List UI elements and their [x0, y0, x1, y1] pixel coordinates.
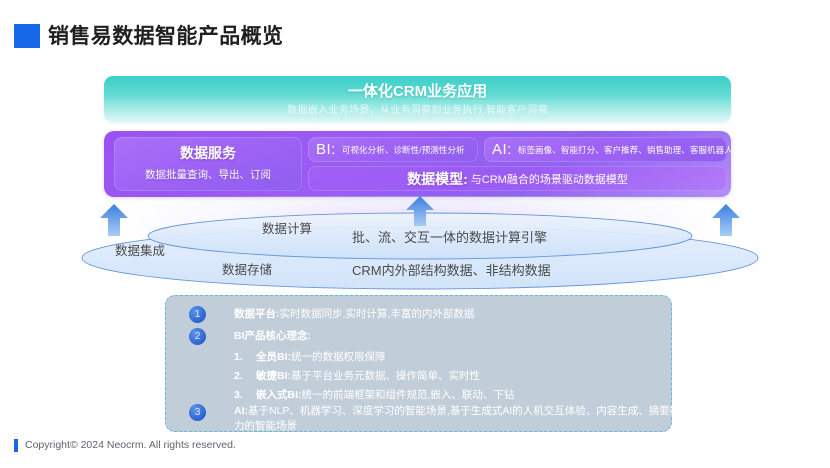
data-compute-label: 数据计算 — [262, 218, 312, 237]
note-subitem-3: 3.嵌入式BI:统一的前端框架和组件规范,嵌入、联动、下钻 — [234, 387, 514, 402]
data-storage-label: 数据存储 — [222, 259, 272, 278]
note-key-3: AI: — [234, 405, 248, 417]
bi-label: BI: — [316, 141, 336, 158]
title-accent-bar — [14, 24, 40, 48]
page-title: 销售易数据智能产品概览 — [48, 20, 283, 50]
footer: Copyright© 2024 Neocrm. All rights reser… — [14, 437, 236, 453]
note-text-2: BI产品核心理念: — [234, 329, 311, 344]
note-subitem-3-body: 统一的前端框架和组件规范,嵌入、联动、下钻 — [302, 389, 515, 401]
data-model-label: 数据模型: — [407, 169, 468, 189]
note-number-1: 1 — [189, 306, 206, 323]
ai-label: AI: — [492, 141, 512, 158]
note-subitem-2-key: 敏捷BI: — [256, 370, 291, 382]
bi-description: 可视化分析、诊断性/预测性分析 — [342, 144, 465, 156]
up-arrow-right-icon — [712, 204, 740, 236]
note-number-2: 2 — [189, 328, 206, 345]
application-layer-band: 一体化CRM业务应用 数据嵌入业务场景、从业务洞察到业务执行,智能客户洞察 — [104, 76, 731, 122]
data-service-title: 数据服务 — [114, 143, 302, 163]
up-arrow-left-icon — [100, 204, 128, 236]
note-key-1: 数据平台: — [234, 308, 280, 320]
note-subitem-3-key: 嵌入式BI: — [256, 389, 302, 401]
note-subitem-2-index: 2. — [234, 370, 256, 382]
title-bar: 销售易数据智能产品概览 — [0, 20, 830, 50]
data-model-card: 数据模型: 与CRM融合的场景驱动数据模型 — [308, 166, 727, 191]
infrastructure-layer: 数据集成 数据计算 批、流、交互一体的数据计算引擎 数据存储 CRM内外部结构数… — [80, 196, 760, 294]
note-text-1: 数据平台:实时数据同步,实时计算,丰富的内外部数据 — [234, 307, 474, 322]
bi-capability-card: BI: 可视化分析、诊断性/预测性分析 — [308, 137, 478, 162]
note-subitem-3-index: 3. — [234, 389, 256, 401]
footer-accent-bar — [14, 439, 18, 452]
ai-description: 标签画像、智能打分、客户推荐、销售助理、客服机器人 — [518, 144, 731, 156]
footer-copyright: Copyright© 2024 Neocrm. All rights reser… — [25, 439, 236, 451]
data-model-description: 与CRM融合的场景驱动数据模型 — [471, 171, 628, 187]
ai-capability-card: AI: 标签画像、智能打分、客户推荐、销售助理、客服机器人 — [484, 137, 727, 162]
note-key-2: BI产品核心理念: — [234, 330, 311, 342]
note-subitem-1-key: 全员BI: — [256, 351, 291, 363]
note-text-3: AI:基于NLP、机器学习、深度学习的智能场景,基于生成式AI的人机交互体验、内… — [234, 404, 689, 434]
note-subitem-1-index: 1. — [234, 351, 256, 363]
note-body-1: 实时数据同步,实时计算,丰富的内外部数据 — [280, 308, 475, 320]
note-number-3: 3 — [189, 404, 206, 421]
data-integration-label: 数据集成 — [115, 240, 165, 259]
application-layer-subtitle: 数据嵌入业务场景、从业务洞察到业务执行,智能客户洞察 — [104, 101, 731, 116]
notes-box: 1 数据平台:实时数据同步,实时计算,丰富的内外部数据 2 BI产品核心理念: … — [165, 295, 672, 432]
platform-layer-band: 数据服务 数据批量查询、导出、订阅 BI: 可视化分析、诊断性/预测性分析 AI… — [104, 131, 731, 197]
application-layer-title: 一体化CRM业务应用 — [104, 80, 731, 101]
data-compute-description: 批、流、交互一体的数据计算引擎 — [352, 227, 547, 246]
note-subitem-2-body: 基于平台业务元数据、操作简单、实时性 — [291, 370, 480, 382]
note-subitem-1: 1.全员BI:统一的数据权限保障 — [234, 349, 386, 364]
data-storage-description: CRM内外部结构数据、非结构数据 — [352, 260, 551, 279]
note-subitem-2: 2.敏捷BI:基于平台业务元数据、操作简单、实时性 — [234, 368, 480, 383]
note-subitem-1-body: 统一的数据权限保障 — [291, 351, 386, 363]
data-service-card: 数据服务 数据批量查询、导出、订阅 — [114, 137, 302, 191]
note-body-3: 基于NLP、机器学习、深度学习的智能场景,基于生成式AI的人机交互体验、内容生成… — [234, 405, 680, 432]
data-service-subtitle: 数据批量查询、导出、订阅 — [114, 167, 302, 182]
